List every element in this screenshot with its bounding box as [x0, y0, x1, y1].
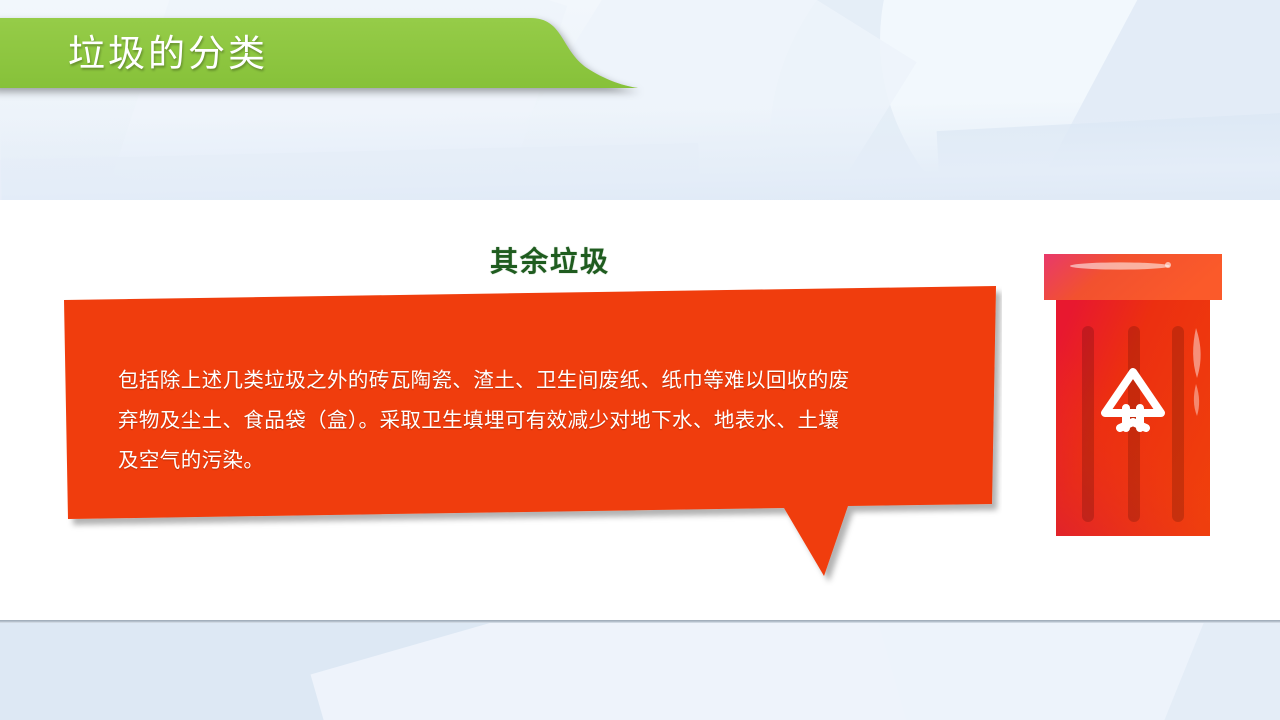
bin-lid	[1044, 254, 1222, 300]
bottom-decorative-band	[0, 623, 1280, 720]
callout-body-text: 包括除上述几类垃圾之外的砖瓦陶瓷、渣土、卫生间废纸、纸巾等难以回收的废 弃物及尘…	[118, 360, 963, 480]
trash-bin-illustration	[1040, 250, 1230, 540]
callout-line-2: 弃物及尘土、食品袋（盒）。采取卫生填埋可有效减少对地下水、地表水、土壤	[118, 400, 963, 440]
page-title: 垃圾的分类	[68, 24, 588, 84]
callout-line-3: 及空气的污染。	[118, 440, 963, 480]
callout-line-1: 包括除上述几类垃圾之外的砖瓦陶瓷、渣土、卫生间废纸、纸巾等难以回收的废	[118, 360, 963, 400]
slide-canvas: 垃圾的分类 其余垃圾 包括除上述几类垃圾之外的砖瓦陶瓷、渣土、卫生间废纸、纸巾等…	[0, 0, 1280, 720]
bin-lid-highlight	[1070, 262, 1170, 269]
